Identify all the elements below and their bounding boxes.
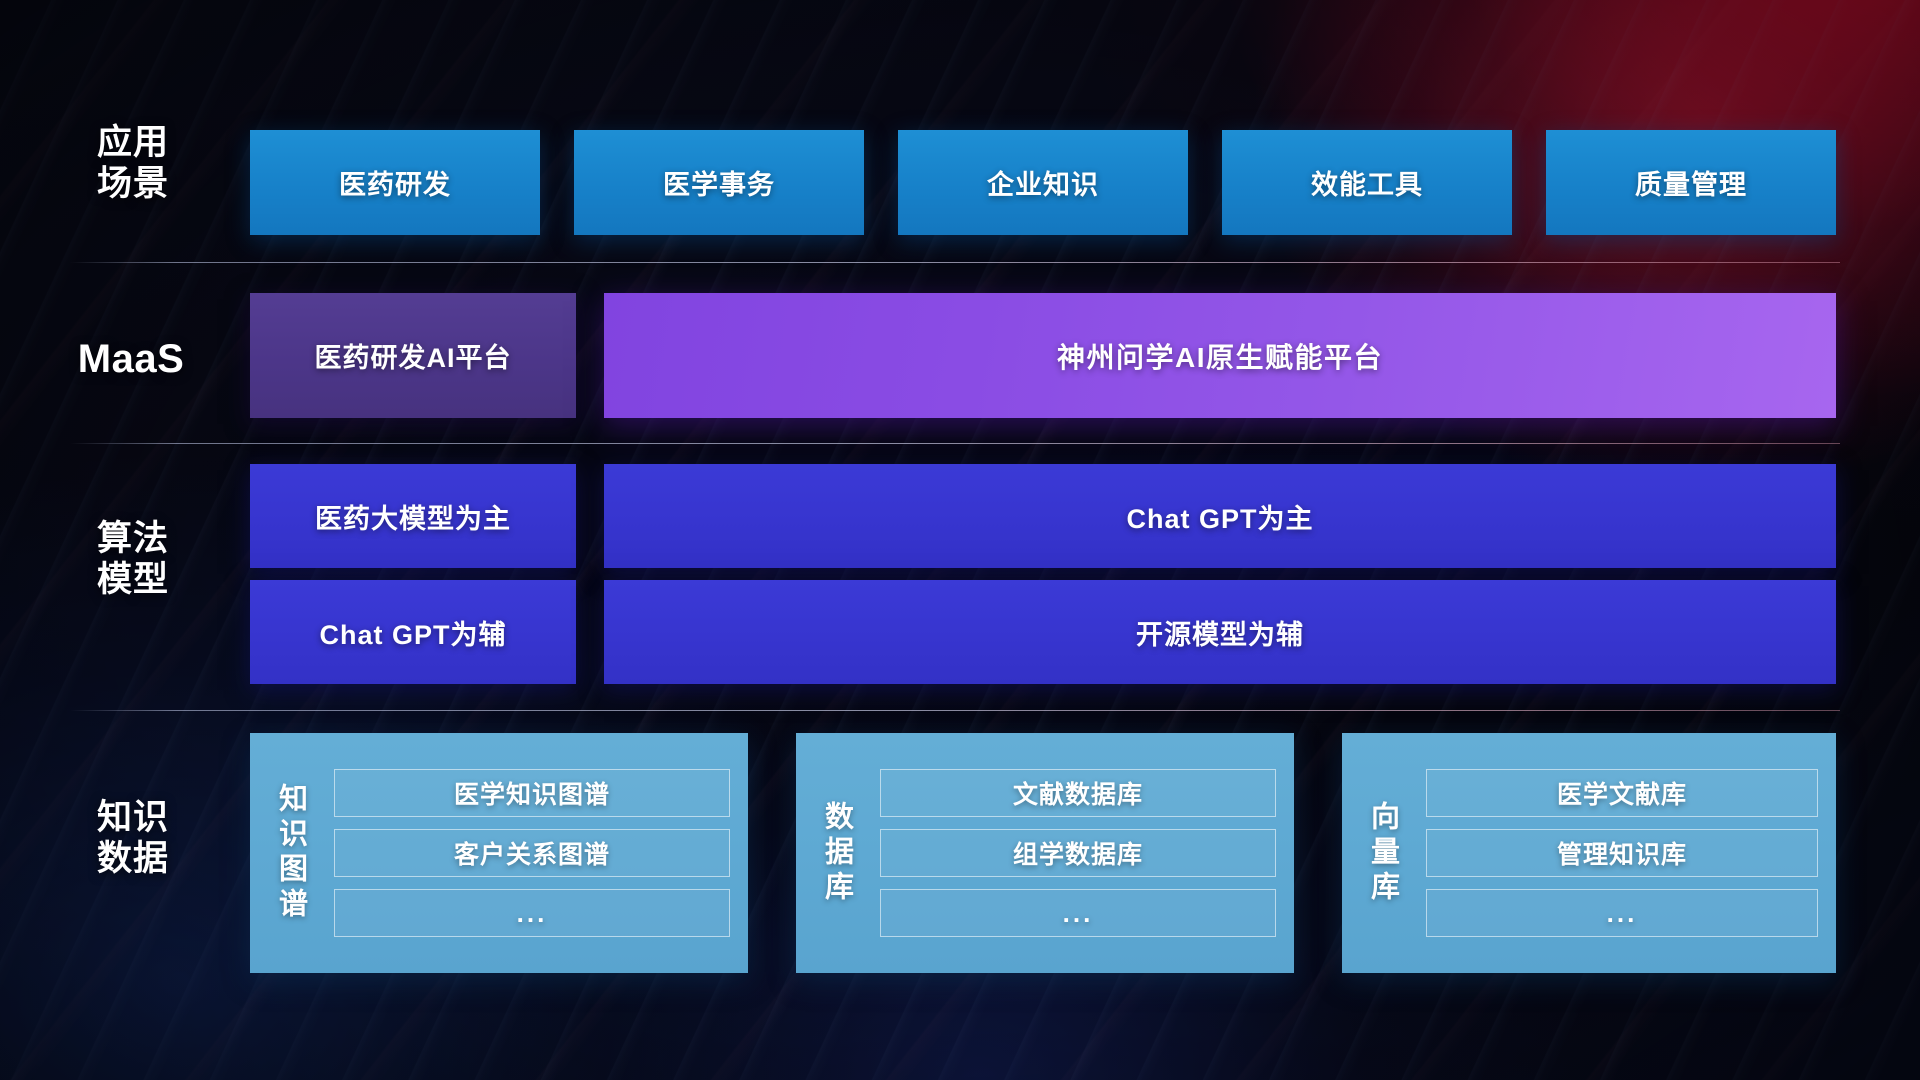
- divider-algorithm-knowledge: [70, 710, 1840, 711]
- application-box-label: 医药研发: [339, 163, 451, 202]
- knowledge-panel-items: 医学文献库 管理知识库 ...: [1422, 733, 1836, 973]
- row-label-line: 模型: [78, 559, 188, 600]
- row-label-maas: MaaS: [66, 336, 196, 383]
- knowledge-panel-items: 文献数据库 组学数据库 ...: [876, 733, 1294, 973]
- algorithm-box-chatgpt-aux[interactable]: Chat GPT为辅: [250, 580, 576, 684]
- application-box-5[interactable]: 质量管理: [1546, 130, 1836, 235]
- knowledge-item[interactable]: 医学文献库: [1426, 769, 1818, 817]
- divider-maas-algorithm: [70, 443, 1840, 444]
- knowledge-panel-vector-store[interactable]: 向量库 医学文献库 管理知识库 ...: [1342, 733, 1836, 973]
- algorithm-box-label: Chat GPT为主: [1126, 497, 1313, 536]
- application-box-label: 医学事务: [663, 163, 775, 202]
- row-label-line: 数据: [78, 838, 188, 879]
- application-box-label: 企业知识: [987, 163, 1099, 202]
- application-box-label: 质量管理: [1635, 163, 1747, 202]
- architecture-diagram: 应用 场景 医药研发 医学事务 企业知识 效能工具 质量管理 MaaS 医药研发…: [0, 0, 1920, 1080]
- algorithm-box-pharma-main[interactable]: 医药大模型为主: [250, 464, 576, 568]
- row-label-application: 应用 场景: [78, 122, 188, 205]
- divider-application-maas: [70, 262, 1840, 263]
- application-box-1[interactable]: 医药研发: [250, 130, 540, 235]
- diagram-grid: 应用 场景 医药研发 医学事务 企业知识 效能工具 质量管理 MaaS 医药研发…: [0, 0, 1920, 1080]
- maas-box-enablement-platform[interactable]: 神州问学AI原生赋能平台: [604, 293, 1836, 418]
- knowledge-panel-database[interactable]: 数据库 文献数据库 组学数据库 ...: [796, 733, 1294, 973]
- algorithm-box-opensource-aux[interactable]: 开源模型为辅: [604, 580, 1836, 684]
- knowledge-item-more[interactable]: ...: [334, 889, 730, 937]
- knowledge-item[interactable]: 文献数据库: [880, 769, 1276, 817]
- knowledge-item[interactable]: 客户关系图谱: [334, 829, 730, 877]
- algorithm-box-label: Chat GPT为辅: [319, 613, 506, 652]
- row-label-line: 应用: [78, 122, 188, 163]
- maas-box-label: 医药研发AI平台: [315, 336, 512, 375]
- application-box-label: 效能工具: [1311, 163, 1423, 202]
- knowledge-panel-vertical-label: 数据库: [796, 733, 876, 973]
- algorithm-box-label: 开源模型为辅: [1136, 613, 1304, 652]
- knowledge-item-more[interactable]: ...: [880, 889, 1276, 937]
- row-label-knowledge: 知识 数据: [78, 797, 188, 880]
- knowledge-item[interactable]: 医学知识图谱: [334, 769, 730, 817]
- knowledge-item-more[interactable]: ...: [1426, 889, 1818, 937]
- knowledge-panel-vertical-label: 知识图谱: [250, 733, 330, 973]
- row-label-line: 知识: [78, 797, 188, 838]
- knowledge-panel-knowledge-graph[interactable]: 知识图谱 医学知识图谱 客户关系图谱 ...: [250, 733, 748, 973]
- row-label-line: 算法: [78, 518, 188, 559]
- algorithm-box-label: 医药大模型为主: [315, 497, 511, 536]
- knowledge-item[interactable]: 组学数据库: [880, 829, 1276, 877]
- row-label-line: 场景: [78, 163, 188, 204]
- application-box-2[interactable]: 医学事务: [574, 130, 864, 235]
- row-label-line: MaaS: [66, 336, 196, 383]
- algorithm-box-chatgpt-main[interactable]: Chat GPT为主: [604, 464, 1836, 568]
- knowledge-panel-items: 医学知识图谱 客户关系图谱 ...: [330, 733, 748, 973]
- row-label-algorithm: 算法 模型: [78, 518, 188, 601]
- application-box-4[interactable]: 效能工具: [1222, 130, 1512, 235]
- knowledge-item[interactable]: 管理知识库: [1426, 829, 1818, 877]
- application-box-3[interactable]: 企业知识: [898, 130, 1188, 235]
- knowledge-panel-vertical-label: 向量库: [1342, 733, 1422, 973]
- maas-box-platform[interactable]: 医药研发AI平台: [250, 293, 576, 418]
- maas-box-label: 神州问学AI原生赋能平台: [1057, 336, 1383, 376]
